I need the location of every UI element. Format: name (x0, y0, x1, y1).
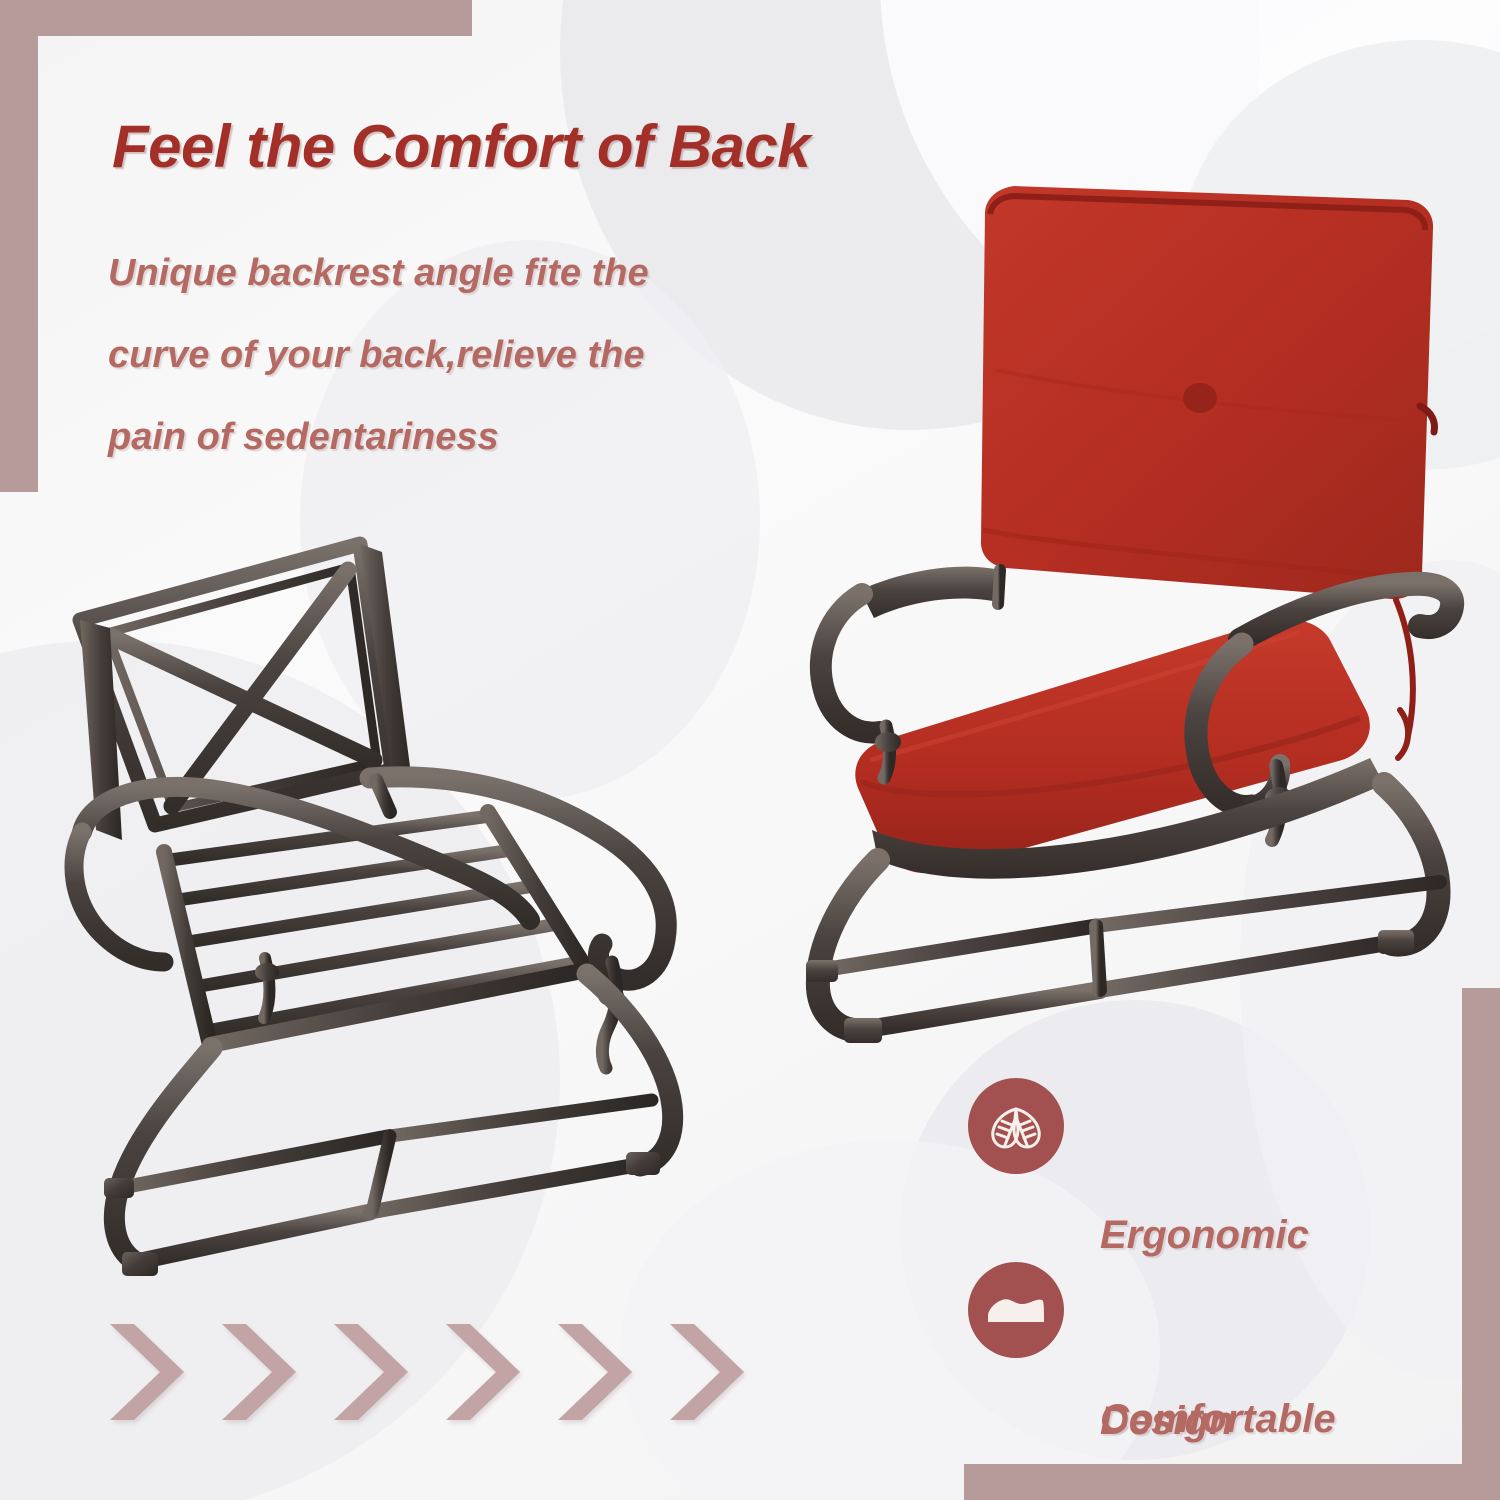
feature-comfortable-cushion: Comfortable Cushion (968, 1262, 1336, 1500)
bottom-right-frame-vertical (1462, 988, 1500, 1500)
marketing-infographic: Feel the Comfort of Back Unique backrest… (0, 0, 1500, 1500)
feature-label-line-1: Comfortable (1100, 1388, 1336, 1450)
top-left-frame-horizontal (0, 0, 472, 36)
patio-chair-frame-bare (60, 500, 760, 1280)
chair-arm-left (821, 567, 1000, 733)
seat-cushion (855, 619, 1370, 873)
subcopy-line-2: curve of your back,relieve the (108, 314, 898, 396)
chair-front-post-left (255, 958, 279, 1018)
subcopy-block: Unique backrest angle fite the curve of … (108, 232, 898, 478)
page-title: Feel the Comfort of Back (112, 112, 810, 181)
subcopy-line-1: Unique backrest angle fite the (108, 232, 898, 314)
chevron-right-icon (664, 1318, 750, 1426)
cushion-icon (984, 1286, 1048, 1334)
feature-label-line-1: Ergonomic (1100, 1204, 1309, 1266)
cushion-button (1183, 383, 1217, 413)
subcopy-line-3: pain of sedentariness (108, 396, 898, 478)
chair-backrest (80, 544, 392, 825)
chevron-right-icon (552, 1318, 638, 1426)
chevron-right-icon (216, 1318, 302, 1426)
chevron-arrow-row (104, 1318, 804, 1428)
chevron-right-icon (104, 1318, 190, 1426)
feature-badge-circle (968, 1262, 1064, 1358)
back-cushion (981, 186, 1435, 599)
leaves-icon (985, 1095, 1047, 1157)
chevron-right-icon (440, 1318, 526, 1426)
feature-label: Comfortable Cushion (1100, 1262, 1336, 1500)
chevron-right-icon (328, 1318, 414, 1426)
patio-chair-cushioned-red (800, 170, 1480, 1060)
feature-badge-circle (968, 1078, 1064, 1174)
top-left-frame-vertical (0, 0, 38, 492)
